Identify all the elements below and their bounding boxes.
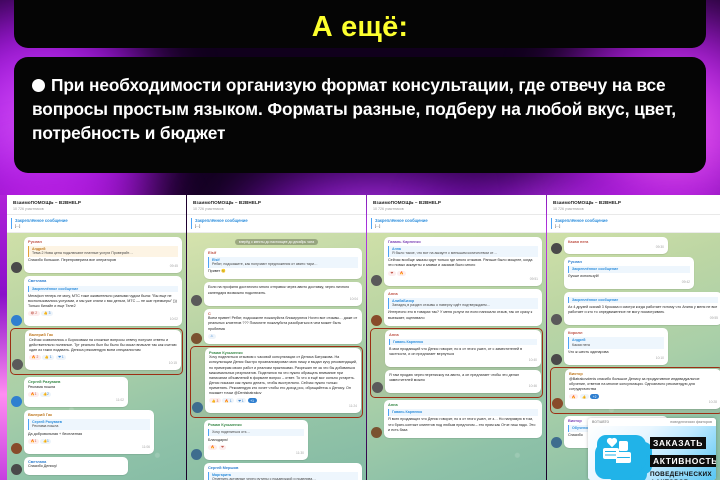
quote-text: Хочу поделиться отз… — [212, 430, 304, 435]
message-bubble[interactable]: Я там продаю через перепискоу на авито, … — [385, 370, 541, 393]
reaction-pill[interactable]: ❤ 1 — [56, 355, 67, 360]
highlighted-message-region: Валерий Гак Сейчас созвонились с Борисов… — [11, 329, 182, 374]
message-row[interactable]: Руслан Закреплённое сообщение Лучше испо… — [551, 257, 720, 289]
avatar — [12, 359, 23, 370]
chat-title: ВзаимоПОМОЩЬ – B2BHELP — [553, 200, 720, 205]
message-text: Я всех продающих что Денис говорит, но я… — [388, 417, 538, 432]
message-text: Всем привет! Ребят, подскажите пожалуйст… — [208, 316, 358, 331]
pinned-label: Закреплённое сообщение — [375, 218, 540, 223]
message-time: 11:24 — [209, 404, 357, 408]
quote-author: Гавань Карпенко — [393, 340, 537, 344]
message-row[interactable]: Сергей Разуваев Реклама пошла 🔥1 👍2 11:0… — [11, 377, 182, 407]
message-row[interactable]: Виктор @Batrakovdenis спасибо большое Де… — [552, 369, 720, 409]
avatar — [371, 315, 382, 326]
message-bubble[interactable]: Закреплённое сообщение Ах 4 друзей скача… — [564, 292, 720, 325]
message-time: 10:15 — [29, 361, 177, 365]
message-bubble[interactable]: Светлана Спасибо Денису! — [24, 457, 128, 475]
chat-header: ВзаимоПОМОЩЬ – B2BHELP 10 726 участников — [367, 195, 546, 215]
reaction-pill[interactable]: 🔥 — [397, 271, 406, 276]
reactions[interactable]: 🔥1 👍1 — [28, 439, 150, 444]
message-bubble[interactable]: Сергей Мершов Маргарита Отменить активны… — [204, 463, 362, 480]
body-paragraph: При необходимости организую формат консу… — [32, 73, 686, 146]
message-text: Реклама пошла — [28, 385, 124, 390]
pinned-message[interactable]: Закреплённое сообщение [...] — [187, 215, 366, 233]
quote-text: Западец в раздел отзывы о наверху идёт п… — [392, 303, 538, 308]
message-bubble[interactable]: Elsif Elsif Ребят, подскажите, как получ… — [204, 248, 362, 280]
quoted-message[interactable]: Elsif Ребят, подскажите, как получают пр… — [208, 257, 358, 268]
message-text: Благодарю! — [208, 438, 304, 443]
sender-name: Кирилл — [568, 331, 664, 336]
chat-members: 10 726 участников — [193, 207, 360, 211]
pinned-text: [...] — [15, 224, 180, 228]
message-time: 10:40 — [389, 358, 537, 362]
quoted-message[interactable]: Андрей Какая пега — [568, 337, 664, 348]
promo-text-block: ЗАКАЗАТЬ АКТИВНОСТЬ ПОВЕДЕНЧЕСКИХ ФАКТОР… — [650, 433, 714, 480]
body-card: При необходимости организую формат консу… — [14, 57, 706, 173]
message-bubble[interactable]: Гавань Карпенко Анна Я было такое, что в… — [384, 237, 542, 286]
chat-title: ВзаимоПОМОЩЬ – B2BHELP — [13, 200, 180, 205]
message-bubble[interactable]: Светлана Закреплённое сообщение Мегафон … — [24, 276, 182, 326]
message-text: Сейчас вообще заказы идут только где мно… — [388, 258, 538, 268]
message-bubble[interactable]: Какая пега 09:30 — [564, 237, 668, 255]
sender-name: Какая пега — [568, 240, 664, 245]
pinned-label: Закреплённое сообщение — [555, 218, 720, 223]
message-text: Я там продаю через перепискоу на авито, … — [389, 373, 537, 383]
promo-line-3: ПОВЕДЕНЧЕСКИХ ФАКТОРОВ — [650, 471, 714, 480]
pinned-text: [...] — [195, 224, 360, 228]
sender-name: Анна — [388, 403, 538, 408]
sender-name: Анна — [388, 292, 538, 297]
message-text: Интересно это в товарах так? У меня услу… — [388, 310, 538, 320]
pinned-message[interactable]: Закреплённое сообщение [...] — [367, 215, 546, 233]
reaction-pill[interactable]: 👍 — [580, 394, 589, 399]
message-row[interactable]: Закреплённое сообщение Ах 4 друзей скача… — [551, 292, 720, 325]
reaction-pill[interactable]: ❤ 1 — [236, 398, 247, 403]
reaction-pill[interactable]: +1 — [248, 398, 257, 403]
message-row[interactable]: Руслан Андрей Тема 2 Нова цена подключаю… — [11, 237, 182, 274]
reaction-pill[interactable]: 👍 3 — [41, 311, 53, 316]
thumbs-up-icon — [619, 441, 628, 451]
reactions[interactable]: 😂 2 👍 3 — [28, 311, 178, 316]
message-row[interactable]: Гавань Карпенко Анна Я было такое, что в… — [371, 237, 542, 286]
reaction-pill[interactable]: ❤ — [388, 271, 396, 276]
quoted-message[interactable]: Закреплённое сообщение — [568, 297, 718, 303]
promo-banner[interactable]: BOT/АВТО поведенческих факторов ЗАКАЗАТЬ… — [588, 418, 716, 480]
reaction-pill[interactable]: 🔥 — [569, 394, 578, 399]
avatar — [191, 295, 202, 306]
reactions[interactable]: 🔥1 👍2 — [28, 392, 124, 397]
reactions[interactable]: 👍 3 🔥 1 ❤ 1 +1 — [209, 398, 357, 403]
sender-name: Руслан — [568, 260, 690, 265]
chat-header: ВзаимоПОМОЩЬ – B2BHELP 10 726 участников — [547, 195, 720, 215]
quoted-message[interactable]: Андрей Тема 2 Нова цена подключают платн… — [28, 246, 178, 257]
quote-author: Закреплённое сообщение — [572, 267, 690, 271]
promo-banner-header-right: поведенческих факторов — [670, 420, 712, 424]
message-bubble[interactable]: Анна АлибаБизор Западец в раздел отзывы … — [384, 289, 542, 326]
message-time: 10:28 — [569, 400, 717, 404]
reactions[interactable]: 🔥 2 👍 1 ❤ 1 — [29, 355, 177, 360]
date-divider: вперёд с квесты до настоящее до декабрь … — [235, 239, 318, 245]
message-time: 11:02 — [28, 398, 124, 402]
message-text: Хочу поделиться отзывом с часовой консул… — [209, 355, 357, 396]
message-time: 10:46 — [389, 384, 537, 388]
reaction-pill[interactable]: 🔥1 — [28, 439, 39, 444]
chat-header: ВзаимоПОМОЩЬ – B2BHELP 10 726 участников — [7, 195, 186, 215]
body-paragraph-text: При необходимости организую формат консу… — [32, 75, 676, 143]
message-bubble[interactable]: Виктор @Batrakovdenis спасибо большое Де… — [565, 369, 720, 409]
chat-members: 10 726 участников — [553, 207, 720, 211]
message-bubble[interactable]: Анна Гавань Карпенко Я всех продающих чт… — [384, 400, 542, 438]
sender-name: Гавань Карпенко — [388, 240, 538, 245]
quoted-message[interactable]: Гавань Карпенко — [388, 409, 538, 415]
avatar — [371, 275, 382, 286]
avatar — [551, 437, 562, 448]
message-text: Спасибо большое. Перепроверила все опера… — [28, 258, 178, 263]
message-row[interactable]: Анна Гавань Карпенко В мои продающий что… — [372, 330, 541, 367]
message-text: Да добровольная + бесплатная — [28, 432, 150, 437]
message-text: В мои продающий что Денис говорит, но я … — [389, 347, 537, 357]
pinned-text: [...] — [555, 224, 720, 228]
chat-title: ВзаимоПОМОЩЬ – B2BHELP — [193, 200, 360, 205]
quoted-message[interactable]: АлибаБизор Западец в раздел отзывы о нав… — [388, 298, 538, 309]
message-row[interactable]: Валерий Гак Сергей Разуваев Реклама пошл… — [11, 410, 182, 454]
message-time: 09:51 — [388, 277, 538, 281]
sender-name: Руслан — [28, 240, 178, 245]
message-row[interactable]: Светлана Закреплённое сообщение Мегафон … — [11, 276, 182, 326]
reaction-pill[interactable]: 👍 3 — [209, 398, 221, 403]
avatar — [552, 398, 563, 409]
avatar — [11, 396, 22, 407]
quoted-message[interactable]: Закреплённое сообщение — [568, 266, 690, 272]
promo-line-2: АКТИВНОСТЬ — [650, 455, 716, 467]
chat-messages: Гавань Карпенко Анна Я было такое, что в… — [367, 233, 546, 480]
sender-name: Elsif — [208, 251, 358, 256]
message-bubble[interactable]: Кирилл Андрей Какая пега Что ж шесть оди… — [564, 328, 668, 365]
reaction-pill[interactable]: ⚠ — [208, 334, 216, 339]
message-row[interactable]: Светлана Спасибо Денису! — [11, 457, 182, 475]
chat-members: 10 726 участников — [373, 207, 540, 211]
quote-text: Ребят, подскажите, как получают предложе… — [212, 262, 358, 267]
quote-text: Тема 2 Нова цена подключают платные услу… — [32, 251, 178, 256]
message-row[interactable]: Валерий Гак Сейчас созвонились с Борисов… — [12, 330, 181, 370]
avatar — [372, 382, 383, 393]
avatar — [11, 464, 22, 475]
reaction-pill[interactable]: 🔥 — [208, 445, 217, 450]
message-time: 09:42 — [568, 280, 690, 284]
message-text: Привет 🙂 — [208, 269, 358, 274]
message-bubble[interactable]: Валерий Гак Сейчас созвонились с Борисов… — [25, 330, 181, 370]
pinned-text: [...] — [375, 224, 540, 228]
message-bubble[interactable]: С Всем привет! Ребят, подскажите пожалуй… — [204, 309, 362, 344]
message-bubble[interactable]: Роман Кузьменко Хочу поделиться отзывом … — [205, 348, 361, 414]
title-card: А ещё: — [14, 0, 706, 48]
highlighted-message-region: Виктор @Batrakovdenis спасибо большое Де… — [551, 368, 720, 413]
message-row[interactable]: Анна Гавань Карпенко Я всех продающих чт… — [371, 400, 542, 438]
reaction-pill[interactable]: 🔥 2 — [29, 355, 41, 360]
avatar — [11, 315, 22, 326]
sender-name: Анна — [389, 333, 537, 338]
message-row[interactable]: Анна АлибаБизор Западец в раздел отзывы … — [371, 289, 542, 326]
promo-line-1: ЗАКАЗАТЬ — [650, 437, 706, 449]
slide-canvas: А ещё: При необходимости организую форма… — [0, 0, 720, 480]
quoted-message[interactable]: Хочу поделиться отз… — [208, 429, 304, 436]
quote-text: Я было такое, что вот на аккаунт с меньш… — [392, 251, 538, 256]
chat-messages: Руслан Андрей Тема 2 Нова цена подключаю… — [7, 233, 186, 480]
message-row[interactable]: Кирилл Андрей Какая пега Что ж шесть оди… — [551, 328, 720, 365]
promo-banner-header-left: BOT/АВТО — [592, 420, 609, 424]
message-time: 11:30 — [208, 451, 304, 455]
sender-name: Роман Кузьменко — [208, 423, 304, 428]
reaction-pill[interactable]: 😂 2 — [28, 311, 40, 316]
message-bubble[interactable]: Если на профиля достаточно много отправо… — [204, 282, 362, 305]
chat-members: 10 726 участников — [13, 207, 180, 211]
page-title: А ещё: — [312, 13, 409, 42]
chat-bubble-icon — [616, 452, 631, 463]
message-time: 10:04 — [208, 297, 358, 301]
pinned-label: Закреплённое сообщение — [15, 218, 180, 223]
sender-name: Сергей Мершов — [208, 466, 358, 471]
message-text: @Batrakovdenis спасибо большое Денису за… — [569, 377, 717, 392]
highlighted-message-region: Роман Кузьменко Хочу поделиться отзывом … — [191, 347, 362, 418]
quote-author: Закреплённое сообщение — [572, 298, 718, 302]
message-time: 10:10 — [568, 356, 664, 360]
sender-name: Валерий Гак — [28, 413, 150, 418]
message-bubble[interactable]: Валерий Гак Сергей Разуваев Реклама пошл… — [24, 410, 154, 454]
avatar — [11, 443, 22, 454]
reaction-pill[interactable]: 🔥1 — [28, 392, 39, 397]
chat-screenshot-1[interactable]: ВзаимоПОМОЩЬ – B2BHELP 10 726 участников… — [7, 195, 186, 480]
promo-illustration — [592, 432, 648, 480]
reactions[interactable]: 🔥 ❤ — [208, 445, 304, 450]
reaction-pill[interactable]: 👍 1 — [42, 355, 54, 360]
message-text: Ах 4 друзей скачай 3 Кроказа и смотри ко… — [568, 305, 718, 315]
message-text: Мегафон теперь не могу, МТС тоже оживите… — [28, 294, 178, 309]
message-text: Сейчас созвонились с Борисовым на сложны… — [29, 338, 177, 353]
chat-header: ВзаимоПОМОЩЬ – B2BHELP 10 726 участников — [187, 195, 366, 215]
reaction-pill[interactable]: 👍1 — [40, 439, 51, 444]
quoted-message[interactable]: Гавань Карпенко — [389, 339, 537, 345]
reactions[interactable]: ⚠ — [208, 334, 358, 339]
message-bubble[interactable]: Сергей Разуваев Реклама пошла 🔥1 👍2 11:0… — [24, 377, 128, 407]
message-time: 09:55 — [568, 316, 718, 320]
promo-banner-header: BOT/АВТО поведенческих факторов — [588, 418, 716, 426]
chat-screenshot-3[interactable]: ВзаимоПОМОЩЬ – B2BHELP 10 726 участников… — [367, 195, 546, 480]
avatar — [192, 402, 203, 413]
reactions[interactable]: 🔥 👍 +2 — [569, 394, 717, 399]
chat-screenshot-2[interactable]: ВзаимоПОМОЩЬ – B2BHELP 10 726 участников… — [187, 195, 366, 480]
message-bubble[interactable]: Руслан Закреплённое сообщение Лучше испо… — [564, 257, 694, 289]
message-row[interactable]: Если на профиля достаточно много отправо… — [191, 282, 362, 305]
message-row[interactable]: Какая пега 09:30 — [551, 237, 720, 255]
quote-author: Закреплённое сообщение — [32, 287, 178, 291]
reaction-pill[interactable]: +2 — [590, 394, 599, 399]
avatar — [191, 449, 202, 460]
quoted-message[interactable]: Закреплённое сообщение — [28, 286, 178, 292]
message-text: Что ж шесть одинарова — [568, 350, 664, 355]
message-text: Спасибо Денису! — [28, 464, 124, 469]
pinned-message[interactable]: Закреплённое сообщение [...] — [7, 215, 186, 233]
reaction-pill[interactable]: ❤ — [219, 445, 227, 450]
message-bubble[interactable]: Анна Гавань Карпенко В мои продающий что… — [385, 330, 541, 367]
avatar — [191, 333, 202, 344]
sender-name: Светлана — [28, 279, 178, 284]
quoted-message[interactable]: Анна Я было такое, что вот на аккаунт с … — [388, 246, 538, 257]
pinned-label: Закреплённое сообщение — [195, 218, 360, 223]
avatar — [11, 262, 22, 273]
quote-text: Какая пега — [572, 343, 664, 348]
message-bubble[interactable]: Роман Кузьменко Хочу поделиться отз… Бла… — [204, 420, 308, 459]
message-row[interactable]: Я там продаю через перепискоу на авито, … — [372, 370, 541, 393]
reactions[interactable]: ❤ 🔥 — [388, 271, 538, 276]
message-time: 09:30 — [568, 245, 664, 249]
message-time: 09:45 — [28, 264, 178, 268]
quote-author: Гавань Карпенко — [392, 410, 538, 414]
quote-text: Реклама пошла — [32, 424, 150, 429]
quoted-message[interactable]: Сергей Разуваев Реклама пошла — [28, 419, 150, 430]
avatar — [551, 243, 562, 254]
avatar — [551, 354, 562, 365]
message-text: Если на профиля достаточно много отправо… — [208, 285, 358, 295]
chat-messages: вперёд с квесты до настоящее до декабрь … — [187, 233, 366, 480]
bullet-icon — [32, 79, 45, 92]
chat-title: ВзаимоПОМОЩЬ – B2BHELP — [373, 200, 540, 205]
avatar — [551, 314, 562, 325]
message-bubble[interactable]: Руслан Андрей Тема 2 Нова цена подключаю… — [24, 237, 182, 274]
message-row[interactable]: Роман Кузьменко Хочу поделиться отзывом … — [192, 348, 361, 414]
message-row[interactable]: С Всем привет! Ребят, подскажите пожалуй… — [191, 309, 362, 344]
message-row[interactable]: Elsif Elsif Ребят, подскажите, как получ… — [191, 248, 362, 280]
message-time: 11:06 — [28, 445, 150, 449]
message-time: 10:02 — [28, 317, 178, 321]
message-row[interactable]: Сергей Мершов Маргарита Отменить активны… — [191, 463, 362, 480]
message-row[interactable]: Роман Кузьменко Хочу поделиться отз… Бла… — [191, 420, 362, 459]
message-text: Лучше используй! — [568, 274, 690, 279]
reaction-pill[interactable]: 🔥 1 — [222, 398, 234, 403]
highlighted-message-region: Анна Гавань Карпенко В мои продающий что… — [371, 329, 542, 398]
pinned-message[interactable]: Закреплённое сообщение [...] — [547, 215, 720, 233]
reaction-pill[interactable]: 👍2 — [40, 392, 51, 397]
avatar — [371, 427, 382, 438]
quoted-message[interactable]: Маргарита Отменить активные через рутины… — [208, 472, 358, 480]
